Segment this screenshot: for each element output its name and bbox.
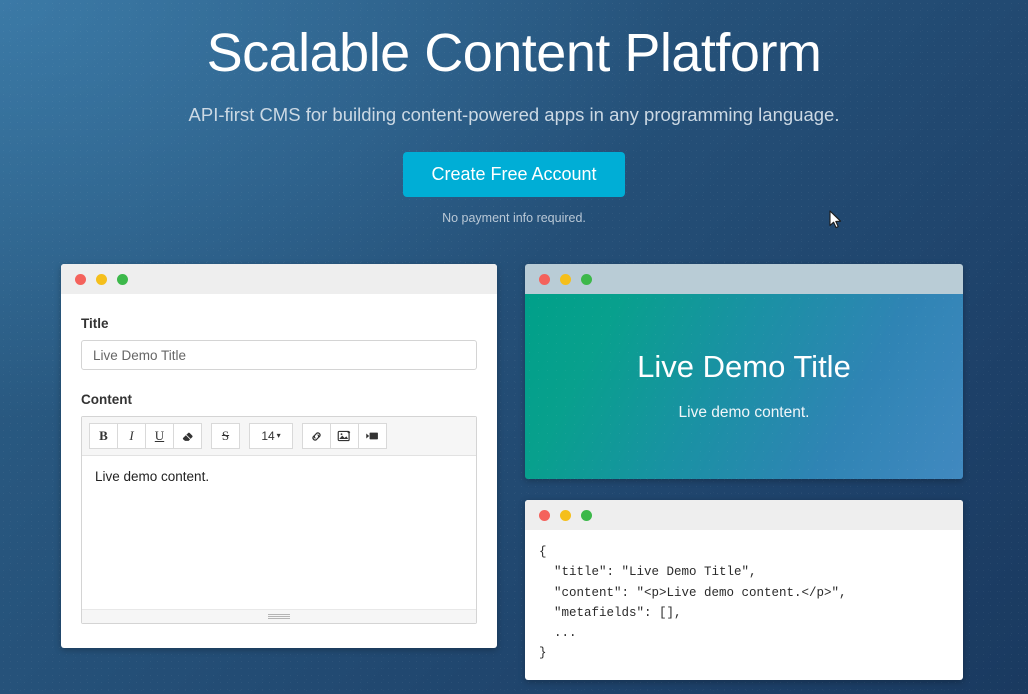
code-window-controls	[539, 510, 592, 521]
preview-content: Live demo content.	[679, 404, 810, 422]
window-controls	[75, 274, 128, 285]
cta-note: No payment info required.	[0, 211, 1028, 225]
preview-column: Live Demo Title Live demo content. { "ti…	[525, 264, 963, 680]
close-dot-icon[interactable]	[539, 274, 550, 285]
resize-grip[interactable]	[268, 614, 290, 619]
minimize-dot-icon[interactable]	[560, 510, 571, 521]
maximize-dot-icon[interactable]	[117, 274, 128, 285]
code-titlebar	[525, 500, 963, 530]
editor-window: Title Content B I U	[61, 264, 497, 648]
insert-image-button[interactable]	[330, 423, 359, 449]
rte-toolbar-group-insert	[302, 423, 387, 449]
content-textarea[interactable]: Live demo content.	[82, 456, 476, 609]
content-field-label: Content	[81, 392, 477, 407]
rte-toolbar: B I U S	[82, 417, 476, 456]
font-size-value: 14	[261, 429, 274, 443]
create-free-account-button[interactable]: Create Free Account	[403, 152, 624, 197]
underline-button[interactable]: U	[145, 423, 174, 449]
eraser-icon	[181, 429, 195, 443]
strikethrough-button[interactable]: S	[211, 423, 240, 449]
maximize-dot-icon[interactable]	[581, 274, 592, 285]
close-dot-icon[interactable]	[539, 510, 550, 521]
hero-subtitle: API-first CMS for building content-power…	[0, 104, 1028, 126]
preview-canvas: Live Demo Title Live demo content.	[525, 294, 963, 479]
json-response-code: { "title": "Live Demo Title", "content":…	[525, 530, 963, 680]
link-icon	[309, 429, 324, 444]
title-input[interactable]	[81, 340, 477, 370]
demo-panels: Title Content B I U	[61, 264, 967, 680]
rte-toolbar-group-size: 14 ▾	[249, 423, 293, 449]
rte-toolbar-group-format: B I U	[89, 423, 202, 449]
preview-window: Live Demo Title Live demo content.	[525, 264, 963, 479]
hero-section: Scalable Content Platform API-first CMS …	[0, 0, 1028, 225]
chevron-down-icon: ▾	[277, 432, 281, 440]
maximize-dot-icon[interactable]	[581, 510, 592, 521]
preview-title: Live Demo Title	[637, 351, 851, 382]
editor-body: Title Content B I U	[61, 294, 497, 648]
preview-texture	[525, 294, 963, 479]
minimize-dot-icon[interactable]	[560, 274, 571, 285]
page-title: Scalable Content Platform	[0, 20, 1028, 88]
font-size-dropdown[interactable]: 14 ▾	[249, 423, 293, 449]
insert-link-button[interactable]	[302, 423, 331, 449]
italic-button[interactable]: I	[117, 423, 146, 449]
bold-button[interactable]: B	[89, 423, 118, 449]
editor-titlebar	[61, 264, 497, 294]
rich-text-editor: B I U S	[81, 416, 477, 624]
image-icon	[337, 429, 352, 443]
title-field-label: Title	[81, 316, 477, 331]
video-icon	[365, 430, 380, 442]
minimize-dot-icon[interactable]	[96, 274, 107, 285]
preview-window-controls	[539, 274, 592, 285]
code-window: { "title": "Live Demo Title", "content":…	[525, 500, 963, 680]
clear-format-button[interactable]	[173, 423, 202, 449]
cta-wrapper: Create Free Account No payment info requ…	[0, 152, 1028, 225]
preview-titlebar	[525, 264, 963, 294]
close-dot-icon[interactable]	[75, 274, 86, 285]
insert-video-button[interactable]	[358, 423, 387, 449]
page-root: Scalable Content Platform API-first CMS …	[0, 0, 1028, 694]
rte-toolbar-group-strike: S	[211, 423, 240, 449]
rte-footer	[82, 609, 476, 623]
